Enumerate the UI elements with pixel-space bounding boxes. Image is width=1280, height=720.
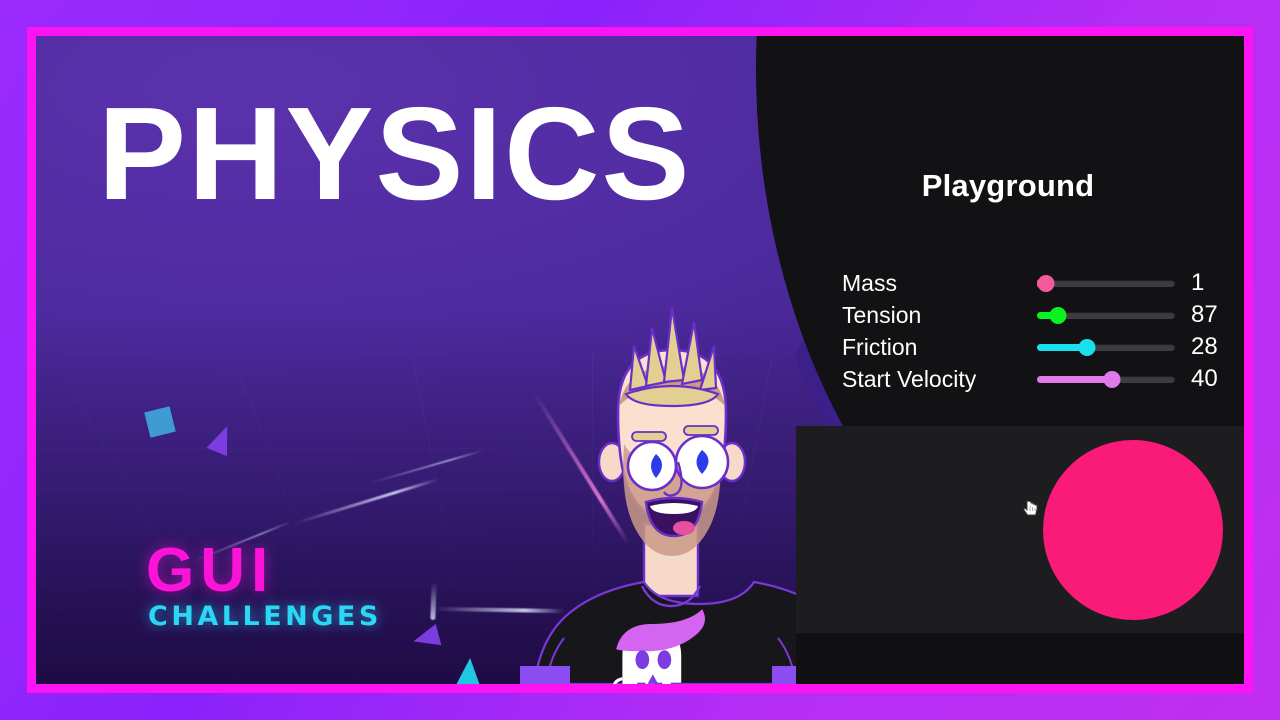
control-value-mass: 1 [1191,269,1233,297]
logo-line-gui: GUI [146,542,382,601]
slider-thumb[interactable] [1079,339,1096,356]
control-label-tension: Tension [842,302,1037,329]
host-character-illustration [506,294,836,684]
gui-challenges-logo: GUI CHALLENGES [146,542,382,632]
control-row-tension: Tension 87 [842,299,1242,331]
shape-cyan-triangle [454,657,484,684]
video-frame: PHYSICS GUI CHALLENGES [0,0,1280,720]
panel-footer-area [796,633,1244,684]
pointer-hand-cursor [1023,500,1039,519]
slider-track[interactable] [1037,280,1175,287]
control-value-start-velocity: 40 [1191,365,1233,393]
control-row-friction: Friction 28 [842,331,1242,363]
control-value-tension: 87 [1191,301,1233,329]
app-screen: PHYSICS GUI CHALLENGES [36,36,1244,684]
slider-thumb[interactable] [1104,371,1121,388]
slider-thumb[interactable] [1050,307,1067,324]
control-label-start-velocity: Start Velocity [842,366,1037,393]
logo-line-challenges: CHALLENGES [148,601,382,632]
control-value-friction: 28 [1191,333,1233,361]
slider-mass[interactable] [1037,272,1175,294]
control-row-start-velocity: Start Velocity 40 [842,363,1242,395]
slider-fill [1037,376,1111,383]
playground-stage[interactable] [796,426,1244,633]
slider-friction[interactable] [1037,336,1175,358]
control-row-mass: Mass 1 [842,267,1242,299]
slider-thumb[interactable] [1038,275,1055,292]
slider-start-velocity[interactable] [1037,368,1175,390]
control-label-mass: Mass [842,270,1037,297]
physics-ball[interactable] [1043,440,1223,620]
panel-title: Playground [772,168,1244,204]
slider-tension[interactable] [1037,304,1175,326]
page-title: PHYSICS [98,88,692,220]
controls-list: Mass 1 Tension 87 Friction [842,267,1242,395]
control-label-friction: Friction [842,334,1037,361]
